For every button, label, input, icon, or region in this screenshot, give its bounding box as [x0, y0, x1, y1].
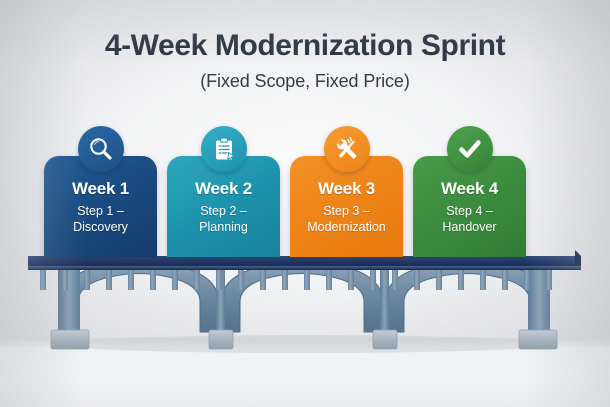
header: 4-Week Modernization Sprint (Fixed Scope…: [0, 30, 610, 92]
wrench-screwdriver-icon: [324, 126, 370, 172]
card-step-line-2: Handover: [417, 219, 522, 235]
step-card-week-2[interactable]: Week 2 Step 2 – Planning: [167, 156, 280, 257]
magnifying-glass-icon: [78, 126, 124, 172]
checkmark-icon: [447, 126, 493, 172]
step-card-week-4[interactable]: Week 4 Step 4 – Handover: [413, 156, 526, 257]
card-step: Step 3 – Modernization: [294, 203, 399, 235]
bridge-arches: [60, 261, 548, 332]
card-title: Week 2: [167, 179, 280, 199]
clipboard-checklist-icon: [201, 126, 247, 172]
bridge-piers: [58, 268, 550, 332]
infographic-slide: 4-Week Modernization Sprint (Fixed Scope…: [0, 0, 610, 407]
card-step-line-1: Step 3 –: [294, 203, 399, 219]
page-subtitle: (Fixed Scope, Fixed Price): [0, 71, 610, 92]
ground-plane: [0, 338, 610, 407]
step-card-week-3[interactable]: Week 3 Step 3 – Modernization: [290, 156, 403, 257]
card-title: Week 1: [44, 179, 157, 199]
card-step-line-2: Discovery: [48, 219, 153, 235]
card-step: Step 1 – Discovery: [48, 203, 153, 235]
card-title: Week 3: [290, 179, 403, 199]
card-step: Step 2 – Planning: [171, 203, 276, 235]
card-step-line-1: Step 4 –: [417, 203, 522, 219]
card-step-line-1: Step 2 –: [171, 203, 276, 219]
card-step: Step 4 – Handover: [417, 203, 522, 235]
card-step-line-1: Step 1 –: [48, 203, 153, 219]
card-step-line-2: Modernization: [294, 219, 399, 235]
page-title: 4-Week Modernization Sprint: [0, 30, 610, 62]
step-card-week-1[interactable]: Week 1 Step 1 – Discovery: [44, 156, 157, 257]
bridge-balusters: [40, 268, 552, 290]
card-title: Week 4: [413, 179, 526, 199]
card-step-line-2: Planning: [171, 219, 276, 235]
